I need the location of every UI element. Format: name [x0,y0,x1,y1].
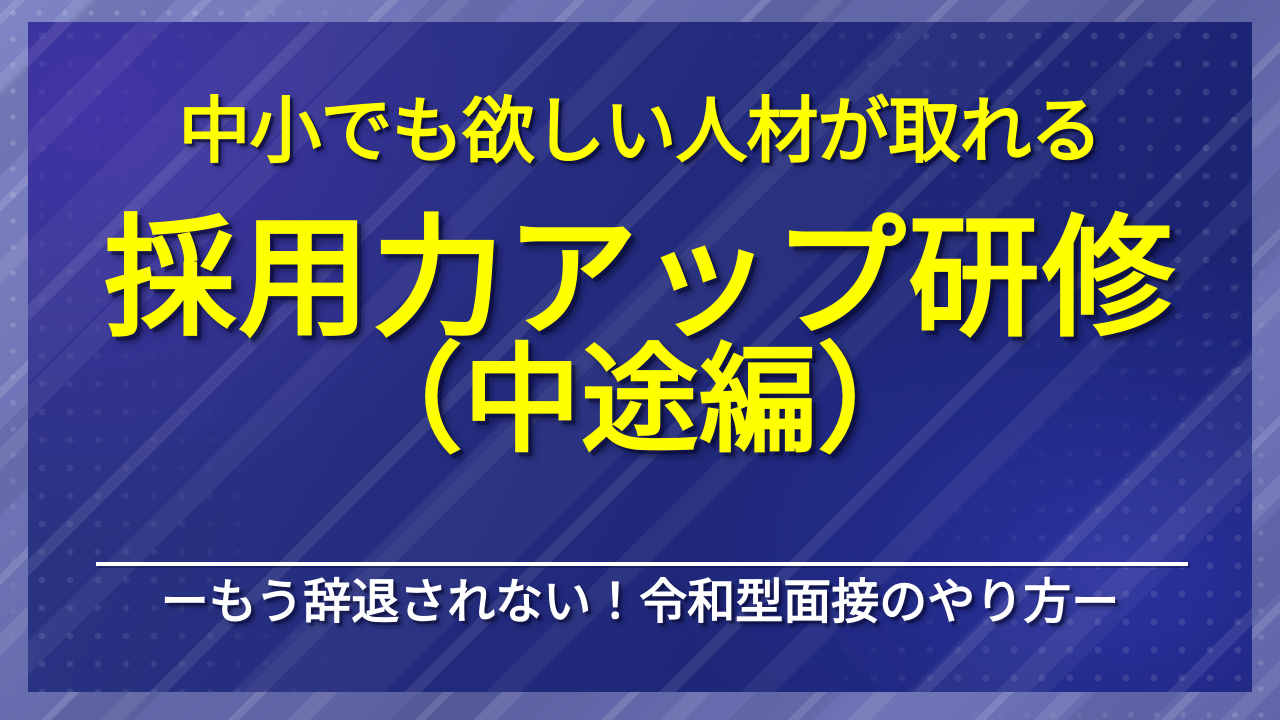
tagline-text: ーもう辞退されない！令和型面接のやり方ー [28,574,1252,632]
presentation-slide: 中小でも欲しい人材が取れる 採用力アップ研修 （中途編） ーもう辞退されない！令… [0,0,1280,720]
slide-inner-panel: 中小でも欲しい人材が取れる 採用力アップ研修 （中途編） ーもう辞退されない！令… [28,22,1252,692]
headline-subtitle: 中小でも欲しい人材が取れる [28,96,1252,168]
headline-main: 採用力アップ研修 （中途編） [28,212,1252,461]
horizontal-divider [96,562,1188,566]
slide-content: 中小でも欲しい人材が取れる 採用力アップ研修 （中途編） ーもう辞退されない！令… [28,22,1252,692]
headline-main-line-1: 採用力アップ研修 [28,212,1252,347]
headline-main-line-2: （中途編） [28,341,1252,461]
